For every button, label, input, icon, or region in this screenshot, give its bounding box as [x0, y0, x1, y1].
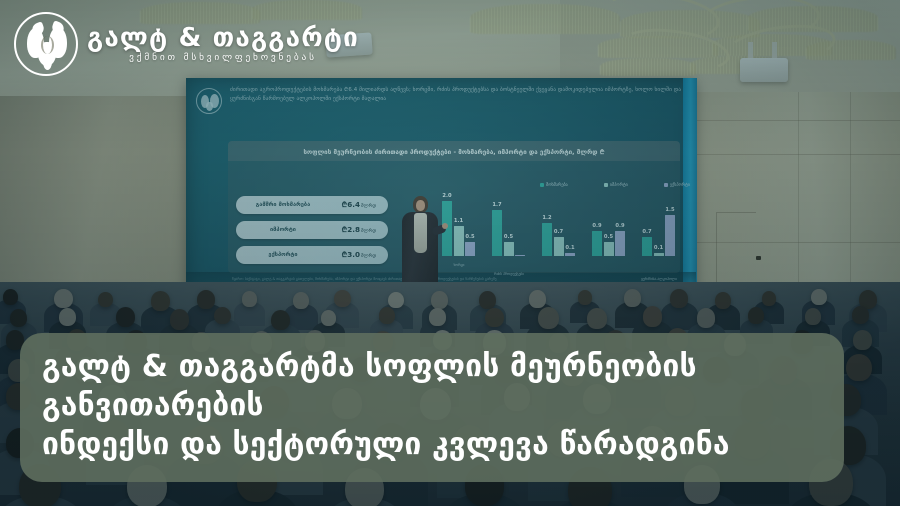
- screenshot-canvas: ძირითადი აგროპროდუქტების მოხმარება ₾6.4 …: [0, 0, 900, 506]
- headline-line-1: გალტ & თაგგარტმა სოფლის მეურნეობის განვი…: [42, 347, 822, 425]
- headline-line-2: ინდექსი და სექტორული კვლევა წარადგინა: [42, 425, 822, 464]
- headline-overlay: გალტ & თაგგარტმა სოფლის მეურნეობის განვი…: [20, 333, 844, 482]
- brand-header: გალტ & თაგგარტი ვქმნით მსხვილფეხოვნებას: [14, 12, 359, 76]
- brand-name: გალტ & თაგგარტი: [87, 25, 359, 51]
- brand-logo-icon: [14, 12, 78, 76]
- brand-tagline: ვქმნით მსხვილფეხოვნებას: [87, 53, 359, 62]
- brand-text-block: გალტ & თაგგარტი ვქმნით მსხვილფეხოვნებას: [87, 25, 359, 62]
